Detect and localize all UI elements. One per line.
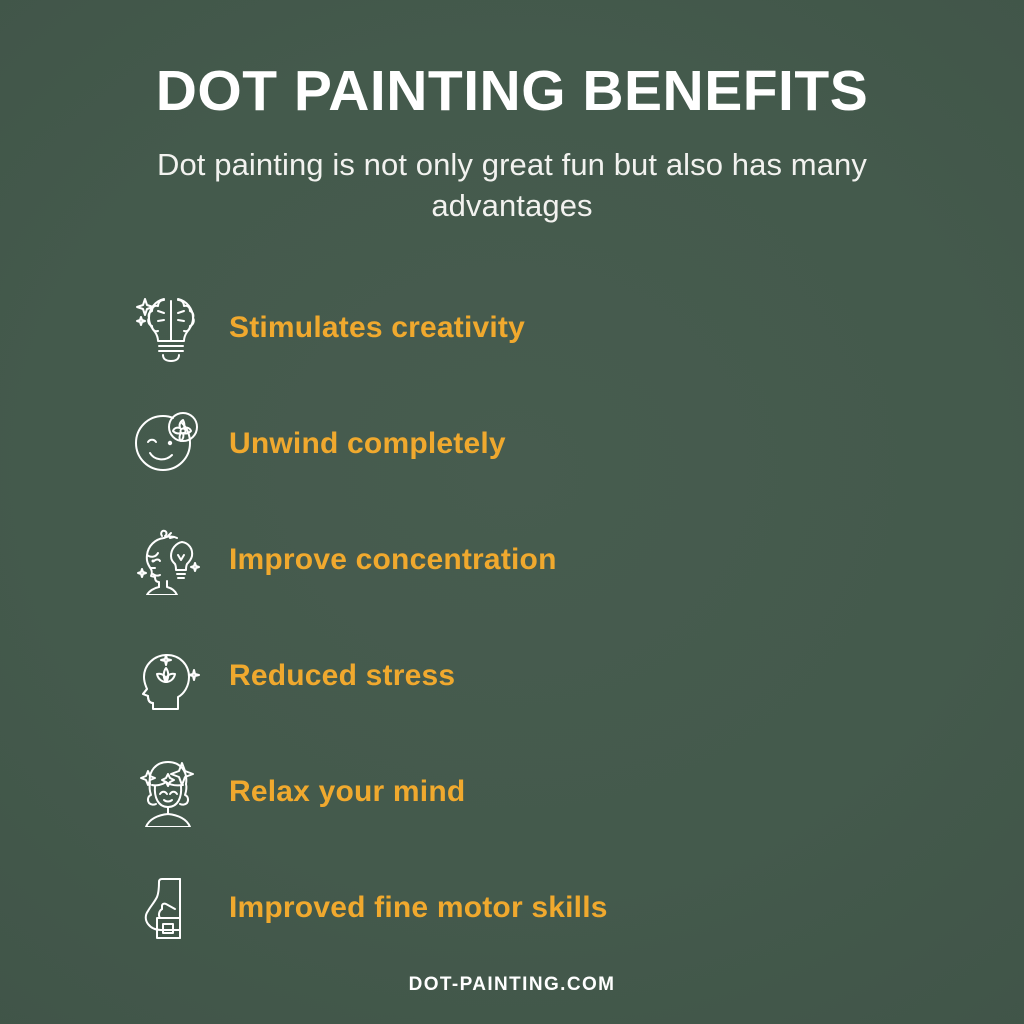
lightbulb-brain-icon [133, 292, 203, 364]
benefit-item: Relax your mind [0, 734, 1024, 850]
subtitle-line-1: Dot painting is not only great fun but a… [157, 147, 782, 182]
benefit-label: Improved fine motor skills [229, 891, 608, 925]
winking-smiley-flower-icon [133, 408, 203, 480]
benefit-item: Improved fine motor skills [0, 850, 1024, 966]
benefit-label: Improve concentration [229, 543, 557, 577]
website-url[interactable]: DOT-PAINTING.COM [409, 974, 616, 995]
benefits-list: Stimulates creativity Unwind completely [0, 270, 1024, 966]
poster-header: DOT PAINTING BENEFITS Dot painting is no… [0, 0, 1024, 226]
head-profile-lightbulb-icon [133, 524, 203, 596]
page-title: DOT PAINTING BENEFITS [0, 62, 1024, 122]
hand-pinching-icon [133, 872, 203, 944]
infographic-poster: DOT PAINTING BENEFITS Dot painting is no… [0, 0, 1024, 1024]
calm-face-stars-icon [133, 756, 203, 828]
benefit-item: Stimulates creativity [0, 270, 1024, 386]
benefit-item: Improve concentration [0, 502, 1024, 618]
benefit-item: Unwind completely [0, 386, 1024, 502]
benefit-label: Unwind completely [229, 427, 506, 461]
benefit-item: Reduced stress [0, 618, 1024, 734]
poster-footer: DOT-PAINTING.COM [0, 974, 1024, 996]
head-lotus-icon [133, 640, 203, 712]
poster-subtitle: Dot painting is not only great fun but a… [142, 144, 882, 226]
benefit-label: Relax your mind [229, 775, 465, 809]
benefit-label: Stimulates creativity [229, 311, 525, 345]
benefit-label: Reduced stress [229, 659, 455, 693]
